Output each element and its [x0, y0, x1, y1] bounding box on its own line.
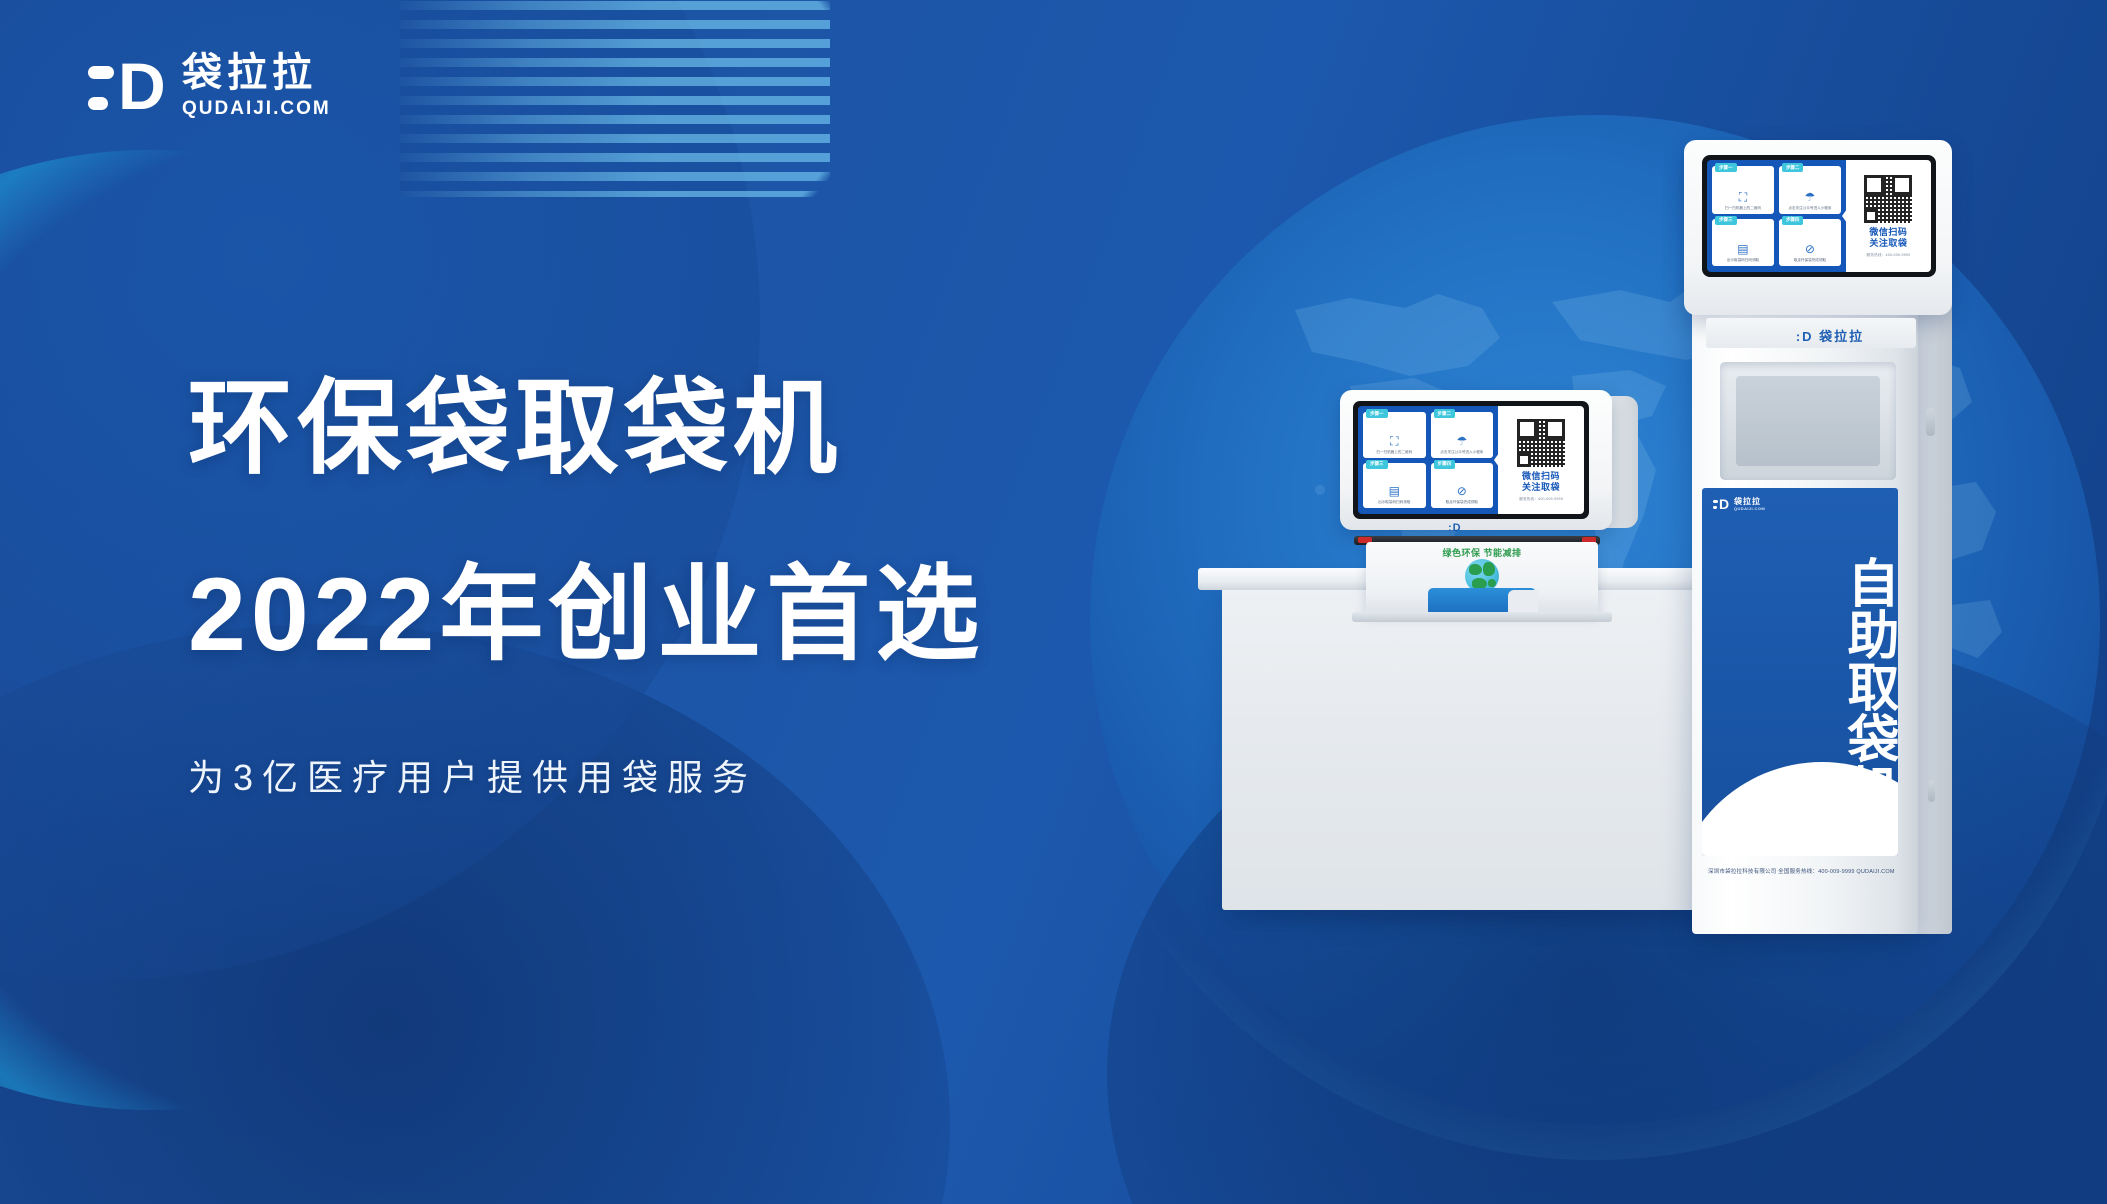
product-photo-scene: 步骤一 ⛶ 扫一扫机器上的二维码 步骤二 ☂ 点击关注公众号进入小程序 步骤三: [1190, 140, 2040, 960]
headline-block: 环保袋取袋机 2022年创业首选 为3亿医疗用户提供用袋服务: [188, 368, 984, 802]
kiosk-screen-content: 步骤一 ⛶ 扫一扫机器上的二维码 步骤二 ☂ 点击关注公众号进入小程序 步骤三: [1707, 160, 1931, 272]
kiosk-cta-line-1: 微信扫码: [1869, 227, 1907, 238]
step-tag: 步骤二: [1782, 163, 1804, 172]
scan-icon: ⛶: [1735, 189, 1751, 205]
kiosk-service-phone: 服务热线：400-009-9999: [1867, 253, 1911, 258]
kiosk-step-card: 步骤二 ☂ 点击关注公众号进入小程序: [1779, 166, 1841, 214]
kiosk-cta-line-1: 微信扫码: [1522, 471, 1560, 482]
logo-domain: QUDAIJI.COM: [182, 97, 331, 121]
floor-machine-button-lower[interactable]: [1928, 780, 1935, 802]
kiosk-step-card: 步骤一 ⛶ 扫一扫机器上的二维码: [1363, 412, 1426, 458]
qr-icon: ▤: [1386, 483, 1402, 499]
bag-pickup-window: [1428, 588, 1536, 614]
marketing-banner: D 袋拉拉 QUDAIJI.COM 环保袋取袋机 2022年创业首选 为3亿医疗…: [0, 0, 2107, 1204]
step-tag: 步骤三: [1366, 460, 1388, 469]
desktop-machine-brand-mark: :D: [1448, 522, 1462, 534]
logo-text-block: 袋拉拉 QUDAIJI.COM: [182, 51, 331, 121]
step-caption: 取走环保袋完成领取: [1794, 258, 1826, 263]
kiosk-step-card: 步骤四 ⊘ 取走环保袋完成领取: [1431, 463, 1494, 509]
kiosk-qr-panel: 微信扫码 关注取袋 服务热线：400-009-9999: [1846, 160, 1931, 272]
bag-dispensing-opening: [1736, 376, 1880, 466]
bag-icon: ⊘: [1802, 241, 1818, 257]
desktop-machine-body: 步骤一 ⛶ 扫一扫机器上的二维码 步骤二 ☂ 点击关注公众号进入小程序 步骤三: [1340, 390, 1612, 530]
floor-machine-branding-panel: D 袋拉拉 QUDAIJI.COM 自助取袋机: [1702, 488, 1898, 856]
kiosk-steps-grid: 步骤一 ⛶ 扫一扫机器上的二维码 步骤二 ☂ 点击关注公众号进入小程序 步骤三: [1707, 160, 1846, 272]
kiosk-service-phone: 服务热线：400-009-9999: [1519, 497, 1563, 502]
headline-line-1: 环保袋取袋机: [188, 368, 984, 490]
scan-icon: ⛶: [1386, 433, 1402, 449]
step-caption: 点击关注公众号进入小程序: [1788, 206, 1831, 211]
floor-machine-head: 步骤一 ⛶ 扫一扫机器上的二维码 步骤二 ☂ 点击关注公众号进入小程序 步骤三: [1684, 140, 1952, 315]
logo-d-mark-icon: D: [88, 50, 166, 122]
logo-dash-top-icon: [88, 66, 114, 79]
follow-icon: ☂: [1454, 433, 1470, 449]
floor-machine-footer-text: 深圳市袋拉拉科技有限公司 全国服务热线：400-009-9999 QUDAIJI…: [1708, 866, 1892, 874]
step-tag: 步骤二: [1434, 409, 1456, 418]
step-tag: 步骤一: [1366, 409, 1388, 418]
background-stripe-fan: [400, 0, 830, 197]
step-caption: 扫一扫机器上的二维码: [1376, 450, 1412, 455]
follow-icon: ☂: [1802, 189, 1818, 205]
service-counter: [1222, 580, 1732, 910]
bag-icon: ⊘: [1454, 483, 1470, 499]
wechat-qr-code-icon: [1517, 419, 1565, 467]
kiosk-cta-line-2: 关注取袋: [1869, 238, 1907, 249]
headline-subtitle: 为3亿医疗用户提供用袋服务: [188, 754, 984, 802]
logo-name-cn: 袋拉拉: [182, 51, 331, 95]
kiosk-step-card: 步骤四 ⊘ 取走环保袋完成领取: [1779, 219, 1841, 267]
bag-dispensing-chamber: [1720, 362, 1896, 480]
kiosk-qr-panel: 微信扫码 关注取袋 服务热线：400-009-9999: [1498, 406, 1584, 514]
step-tag: 步骤四: [1434, 460, 1456, 469]
background-stripe-fade: [400, 0, 830, 197]
step-tag: 步骤三: [1715, 216, 1737, 225]
kiosk-step-card: 步骤三 ▤ 出示取袋码扫码领取: [1363, 463, 1426, 509]
headline-line-2: 2022年创业首选: [188, 554, 984, 676]
desktop-machine-base: [1352, 612, 1612, 622]
floor-machine-brand-mark: :D 袋拉拉: [1680, 326, 1980, 345]
step-tag: 步骤一: [1715, 163, 1737, 172]
step-caption: 点击关注公众号进入小程序: [1440, 450, 1483, 455]
kiosk-steps-grid: 步骤一 ⛶ 扫一扫机器上的二维码 步骤二 ☂ 点击关注公众号进入小程序 步骤三: [1358, 406, 1498, 514]
logo-letter-d: D: [118, 58, 165, 114]
kiosk-screen-content: 步骤一 ⛶ 扫一扫机器上的二维码 步骤二 ☂ 点击关注公众号进入小程序 步骤三: [1358, 406, 1584, 514]
kiosk-step-card: 步骤一 ⛶ 扫一扫机器上的二维码: [1712, 166, 1774, 214]
desktop-machine-screen[interactable]: 步骤一 ⛶ 扫一扫机器上的二维码 步骤二 ☂ 点击关注公众号进入小程序 步骤三: [1353, 401, 1589, 519]
wechat-qr-code-icon: [1864, 175, 1912, 223]
step-caption: 出示取袋码扫码领取: [1378, 500, 1410, 505]
floor-machine-screen[interactable]: 步骤一 ⛶ 扫一扫机器上的二维码 步骤二 ☂ 点击关注公众号进入小程序 步骤三: [1702, 155, 1936, 277]
desktop-bag-dispenser: 步骤一 ⛶ 扫一扫机器上的二维码 步骤二 ☂ 点击关注公众号进入小程序 步骤三: [1340, 390, 1640, 605]
eco-slogan: 绿色环保 节能减排: [1366, 546, 1598, 559]
brand-logo: D 袋拉拉 QUDAIJI.COM: [88, 50, 331, 122]
desktop-machine-stand: 绿色环保 节能减排: [1366, 542, 1598, 614]
step-tag: 步骤四: [1782, 216, 1804, 225]
step-caption: 出示取袋码扫码领取: [1727, 258, 1759, 263]
step-caption: 取走环保袋完成领取: [1446, 500, 1478, 505]
panel-logo: D 袋拉拉 QUDAIJI.COM: [1713, 497, 1765, 512]
step-caption: 扫一扫机器上的二维码: [1725, 206, 1761, 211]
panel-logo-text: 袋拉拉 QUDAIJI.COM: [1734, 497, 1765, 512]
panel-logo-domain: QUDAIJI.COM: [1734, 506, 1765, 512]
floor-standing-bag-dispenser: 步骤一 ⛶ 扫一扫机器上的二维码 步骤二 ☂ 点击关注公众号进入小程序 步骤三: [1680, 140, 1980, 940]
kiosk-step-card: 步骤二 ☂ 点击关注公众号进入小程序: [1431, 412, 1494, 458]
kiosk-cta-line-2: 关注取袋: [1522, 482, 1560, 493]
floor-machine-button-upper[interactable]: [1926, 408, 1935, 436]
kiosk-step-card: 步骤三 ▤ 出示取袋码扫码领取: [1712, 219, 1774, 267]
panel-logo-name-cn: 袋拉拉: [1734, 497, 1765, 506]
panel-logo-d-mark-icon: D: [1713, 497, 1730, 512]
qr-icon: ▤: [1735, 241, 1751, 257]
logo-dash-bottom-icon: [88, 97, 108, 110]
